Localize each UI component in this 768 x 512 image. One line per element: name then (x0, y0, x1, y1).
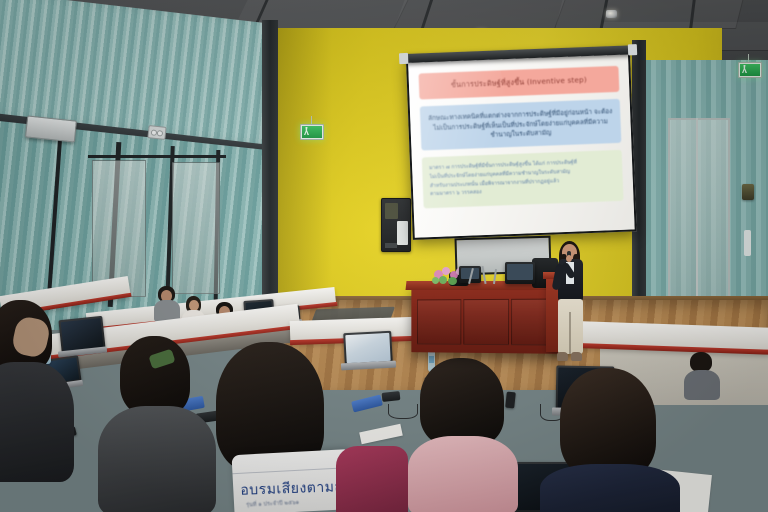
attendee-shoulder (336, 446, 408, 512)
projection-screen: ขั้นการประดิษฐ์ที่สูงขึ้น (Inventive ste… (406, 51, 637, 239)
right-glass-door[interactable] (668, 118, 730, 318)
presenter (552, 244, 588, 364)
glass-door-center[interactable] (172, 162, 220, 294)
papers (359, 424, 403, 444)
desk-monitor (505, 262, 535, 284)
seminar-room-photo: ขั้นการประดิษฐ์ที่สูงขึ้น (Inventive ste… (0, 0, 768, 512)
device (382, 391, 401, 402)
slide-title: ขั้นการประดิษฐ์ที่สูงขึ้น (Inventive ste… (419, 66, 620, 100)
door-handle[interactable] (744, 230, 751, 256)
exit-sign-icon (300, 124, 324, 140)
audio-device (351, 395, 383, 413)
left-wall-with-blinds (0, 0, 262, 330)
slide-body-text: ลักษณะทางเทคนิคที่แตกต่างจากการประดิษฐ์ท… (420, 99, 622, 150)
vest-subtext: รุ่นที่ ๑ ประจำปี ๒๕๖๑ (246, 499, 299, 510)
smartphone (505, 392, 516, 409)
slide-footnote: มาตรา ๗ การประดิษฐ์ที่มีขั้นการประดิษฐ์ส… (422, 150, 624, 208)
wall-control-panel[interactable] (381, 198, 411, 252)
exit-sign-icon (738, 62, 762, 78)
head-desk (411, 284, 566, 354)
wall-switch-plate[interactable] (147, 125, 166, 140)
ceiling-spotlight (606, 10, 617, 18)
wall-column-left (262, 20, 278, 320)
access-card-reader[interactable] (742, 184, 754, 200)
